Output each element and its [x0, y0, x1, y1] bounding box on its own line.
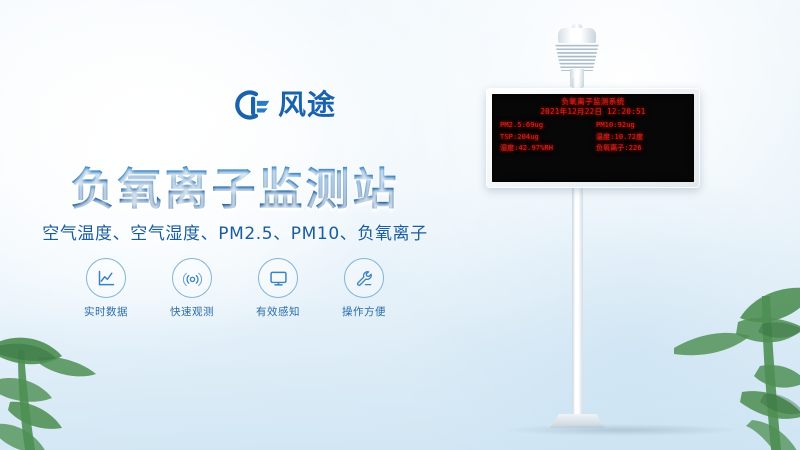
- led-reading-pm10: PM10:92ug: [596, 120, 688, 131]
- feature-label: 快速观测: [170, 304, 214, 319]
- led-reading-temperature: 温度:10.72度: [596, 132, 688, 143]
- led-reading-tsp: TSP:204ug: [500, 132, 592, 143]
- banner-stage: 风途 负氧离子监测站 空气温度、空气湿度、PM2.5、PM10、负氧离子 实时数…: [0, 0, 800, 450]
- led-reading-negative-ion: 负氧离子:226: [596, 143, 688, 154]
- line-chart-icon: [86, 258, 126, 298]
- fengtu-logo-icon: [231, 88, 271, 122]
- plant-leaves-icon: [0, 306, 136, 450]
- page-title: 负氧离子监测站: [0, 165, 470, 214]
- led-screen-title: 负氧离子监测系统: [498, 97, 688, 107]
- feature-item-effective-sensing[interactable]: 有效感知: [250, 258, 306, 319]
- feature-item-easy-operation[interactable]: 操作方便: [336, 258, 392, 319]
- monitor-icon: [258, 258, 298, 298]
- led-reading-pm25: PM2.5:69ug: [500, 120, 592, 131]
- feature-label: 有效感知: [256, 304, 300, 319]
- sensor-cap: [558, 28, 596, 44]
- sensor-louver-plates: [555, 43, 599, 71]
- wrench-icon: [344, 258, 384, 298]
- hero-subtitle: 空气温度、空气湿度、PM2.5、PM10、负氧离子: [0, 219, 470, 244]
- led-datetime: 2021年12月22日 12:20:51: [498, 107, 688, 118]
- brand-lockup: 风途: [231, 88, 336, 122]
- led-screen: 负氧离子监测系统 2021年12月22日 12:20:51 PM2.5:69ug…: [492, 94, 694, 182]
- feature-label: 操作方便: [342, 304, 386, 319]
- brand-name: 风途: [278, 91, 336, 119]
- led-readings-grid: PM2.5:69ug PM10:92ug TSP:204ug 温度:10.72度…: [498, 120, 688, 154]
- plant-leaves-icon: [666, 270, 800, 450]
- led-reading-humidity: 湿度:42.97%RH: [500, 143, 592, 154]
- feature-item-fast-observation[interactable]: 快速观测: [164, 258, 220, 319]
- led-display-board[interactable]: 负氧离子监测系统 2021年12月22日 12:20:51 PM2.5:69ug…: [486, 88, 700, 188]
- signal-sensor-icon: [172, 258, 212, 298]
